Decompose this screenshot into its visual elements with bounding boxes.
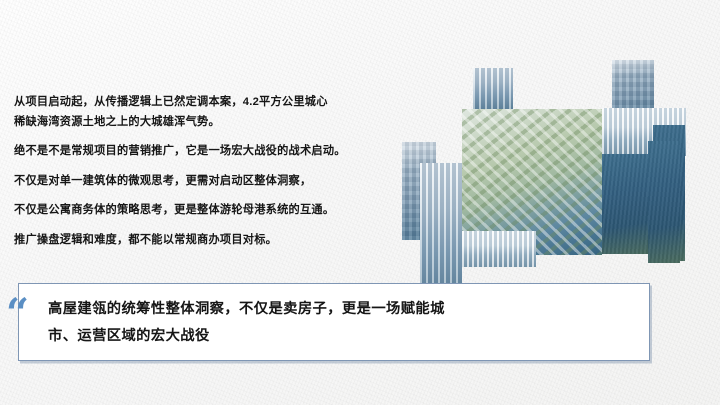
body-paragraph: 不仅是公寓商务体的策略思考，更是整体游轮母港系统的互通。 [14, 201, 406, 221]
tile-water-tall [648, 141, 680, 263]
quote-mark-icon: “ [6, 294, 27, 334]
body-paragraph: 从项目启动起，从传播逻辑上已然定调本案，4.2平方公里城心 稀缺海湾资源土地之上… [14, 93, 406, 132]
image-collage [390, 46, 720, 284]
slide-canvas: 从项目启动起，从传播逻辑上已然定调本案，4.2平方公里城心 稀缺海湾资源土地之上… [0, 0, 720, 405]
quote-text: 高屋建瓴的统筹性整体洞察，不仅是卖房子，更是一场赋能城 市、运营区域的宏大战役 [48, 296, 628, 350]
tile-bay-center-lower [462, 231, 536, 267]
body-paragraph: 不仅是对单一建筑体的微观思考，更需对启动区整体洞察， [14, 172, 406, 192]
tile-tower-top [473, 68, 513, 113]
body-paragraph: 推广操盘逻辑和难度，都不能以常规商办项目对标。 [14, 231, 406, 251]
body-copy-block: 从项目启动起，从传播逻辑上已然定调本案，4.2平方公里城心 稀缺海湾资源土地之上… [14, 93, 406, 250]
body-paragraph: 绝不是不是常规项目的营销推广，它是一场宏大战役的战术启动。 [14, 142, 406, 162]
tile-water-right [602, 154, 652, 254]
